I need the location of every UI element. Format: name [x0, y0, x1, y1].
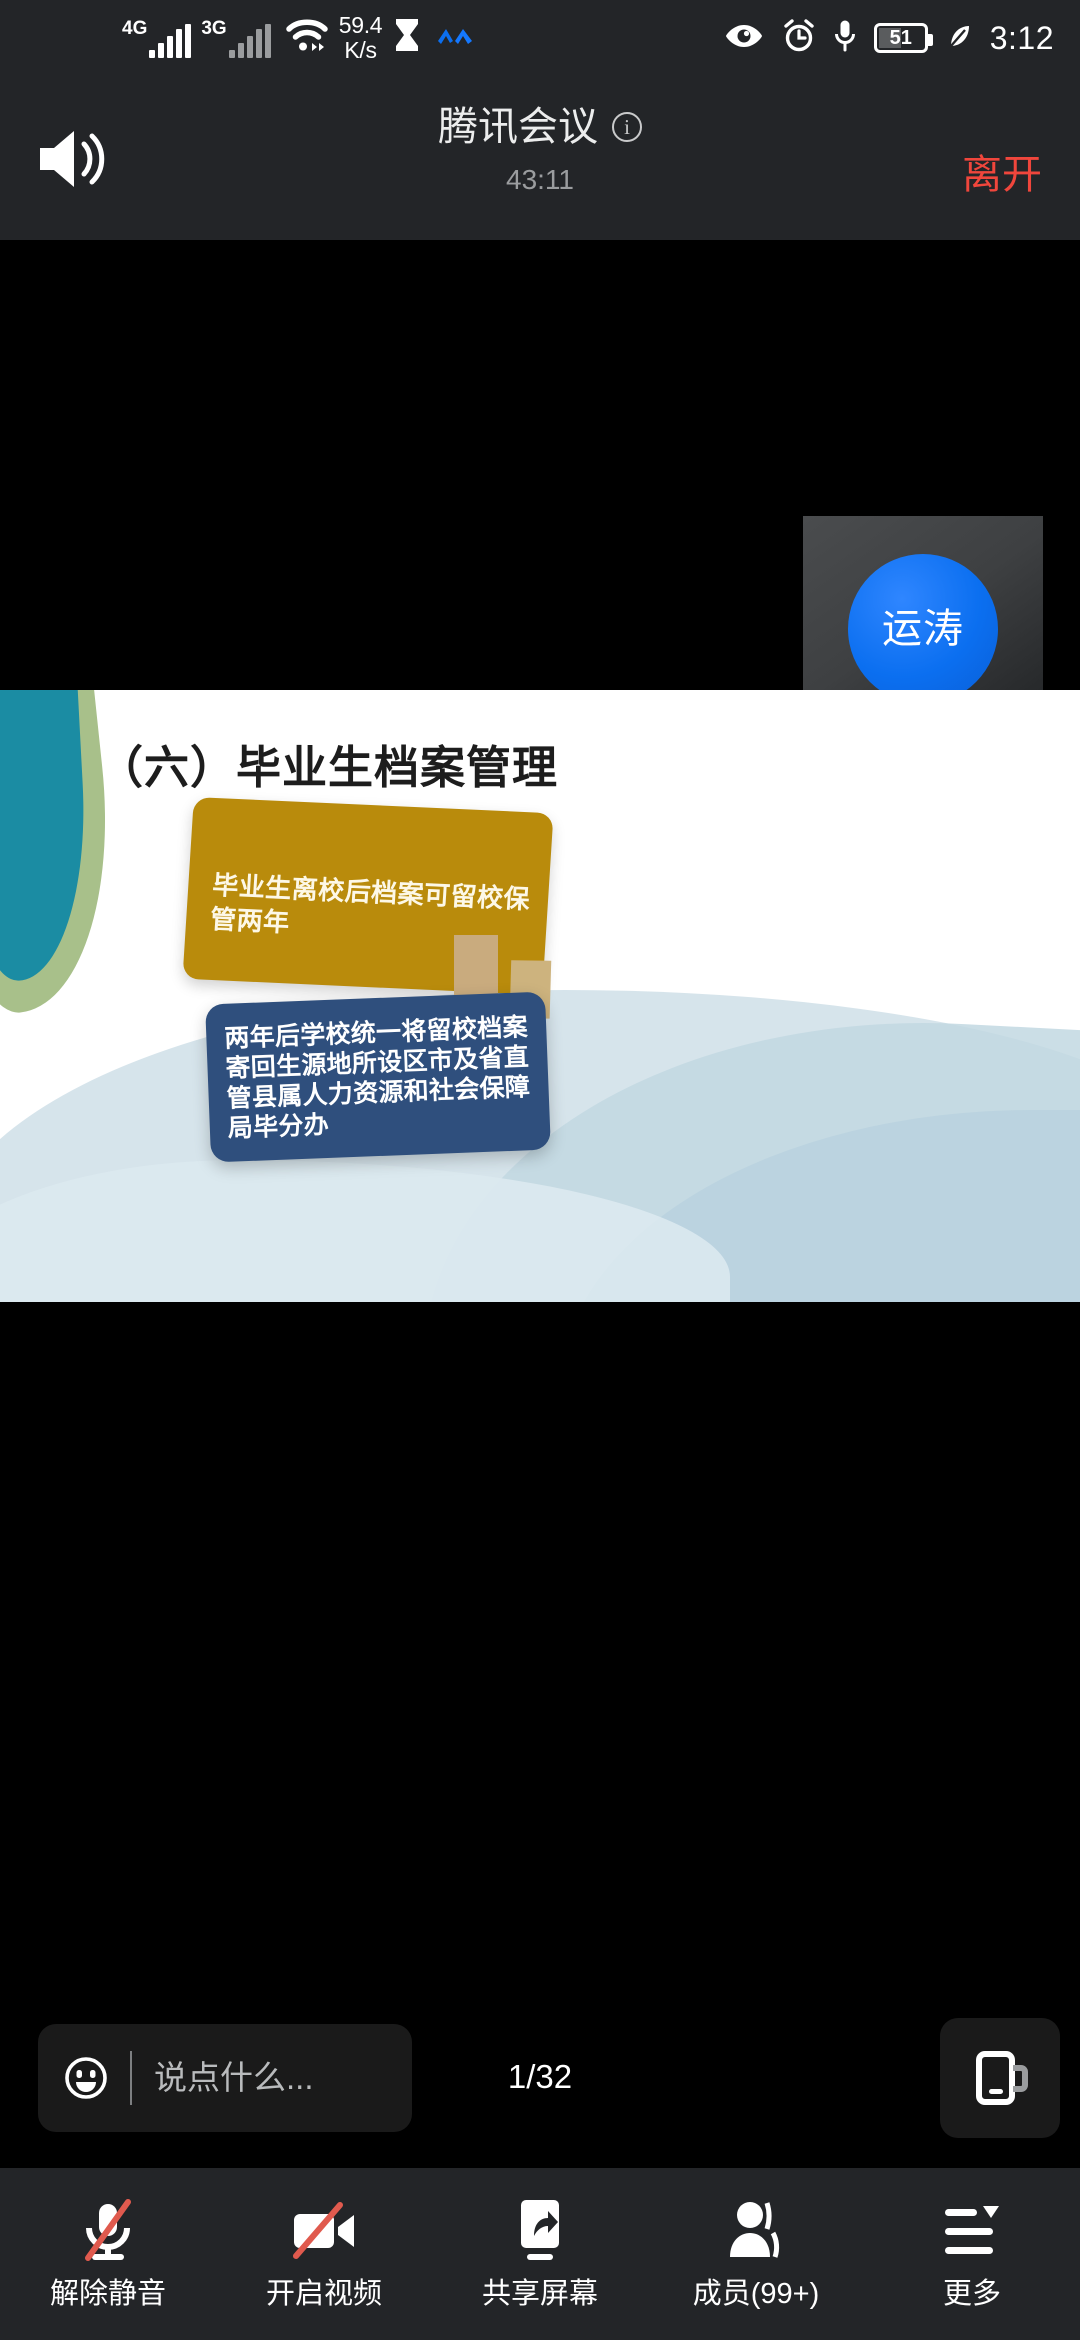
toolbar-label-start-video: 开启视频	[266, 2278, 382, 2311]
meeting-title-row[interactable]: 腾讯会议 i	[438, 104, 642, 150]
avatar-initials: 运涛	[882, 609, 964, 649]
info-icon[interactable]: i	[612, 112, 642, 142]
network-speed-label: 59.4K/s	[339, 13, 383, 63]
slide-blue-card: 两年后学校统一将留校档案寄回生源地所设区市及省直管县属人力资源和社会保障局毕分办	[205, 992, 551, 1163]
meeting-timer: 43:11	[506, 164, 574, 196]
microphone-muted-icon	[72, 2198, 144, 2264]
status-bar-left: 4G 3G 59.4K/s	[122, 0, 476, 76]
chat-row: 说点什么... 1/32	[0, 2010, 1080, 2150]
toolbar-label-unmute: 解除静音	[50, 2278, 166, 2311]
network-type-label-2: 3G	[201, 19, 226, 38]
meeting-header: 腾讯会议 i 43:11 离开	[0, 76, 1080, 240]
avatar: 运涛	[848, 554, 998, 704]
eye-icon	[723, 22, 765, 55]
slide-title: （六）毕业生档案管理	[98, 742, 558, 794]
status-bar-right: 51 3:12	[723, 0, 1054, 76]
status-clock: 3:12	[990, 22, 1054, 54]
toolbar-item-more[interactable]: 更多	[864, 2168, 1080, 2340]
battery-indicator: 51	[874, 23, 928, 53]
shared-slide[interactable]: （六）毕业生档案管理 毕业生离校后档案可留校保管两年 两年后学校统一将留校档案寄…	[0, 690, 1080, 1302]
app-badge-icon	[436, 23, 476, 54]
network-type-label-1: 4G	[122, 19, 147, 38]
screen-layout-switch-icon	[967, 2043, 1033, 2114]
leave-button[interactable]: 离开	[962, 152, 1042, 198]
video-stage[interactable]: 运涛 陈运涛	[0, 240, 1080, 690]
sim2-signal: 3G	[201, 19, 270, 58]
toolbar-label-share-screen: 共享屏幕	[482, 2278, 598, 2311]
battery-level-label: 51	[890, 28, 912, 48]
bottom-toolbar: 解除静音 开启视频 共享屏幕	[0, 2168, 1080, 2340]
camera-off-icon	[288, 2198, 360, 2264]
meeting-header-center: 腾讯会议 i 43:11	[0, 76, 1080, 196]
slide-blue-card-text: 两年后学校统一将留校档案寄回生源地所设区市及省直管县属人力资源和社会保障局毕分办	[224, 1012, 538, 1144]
toolbar-item-share-screen[interactable]: 共享屏幕	[432, 2168, 648, 2340]
participants-icon	[720, 2198, 792, 2264]
toolbar-item-start-video[interactable]: 开启视频	[216, 2168, 432, 2340]
signal-bars-1	[149, 24, 191, 58]
sim1-signal: 4G	[122, 19, 191, 58]
toolbar-item-participants[interactable]: 成员(99+)	[648, 2168, 864, 2340]
layout-switch-button[interactable]	[940, 2018, 1060, 2138]
hourglass-icon	[392, 16, 422, 61]
slide-page-indicator: 1/32	[0, 2058, 1080, 2096]
share-screen-icon	[504, 2198, 576, 2264]
toolbar-item-unmute[interactable]: 解除静音	[0, 2168, 216, 2340]
leaf-icon	[945, 22, 973, 55]
signal-bars-2	[229, 24, 271, 58]
microphone-icon	[833, 19, 857, 58]
toolbar-label-participants: 成员(99+)	[693, 2278, 820, 2311]
more-menu-icon	[936, 2198, 1008, 2264]
status-bar: 4G 3G 59.4K/s	[0, 0, 1080, 76]
wifi-icon	[285, 18, 329, 59]
toolbar-label-more: 更多	[943, 2278, 1001, 2311]
alarm-clock-icon	[782, 19, 816, 58]
page-title: 腾讯会议	[438, 104, 598, 150]
